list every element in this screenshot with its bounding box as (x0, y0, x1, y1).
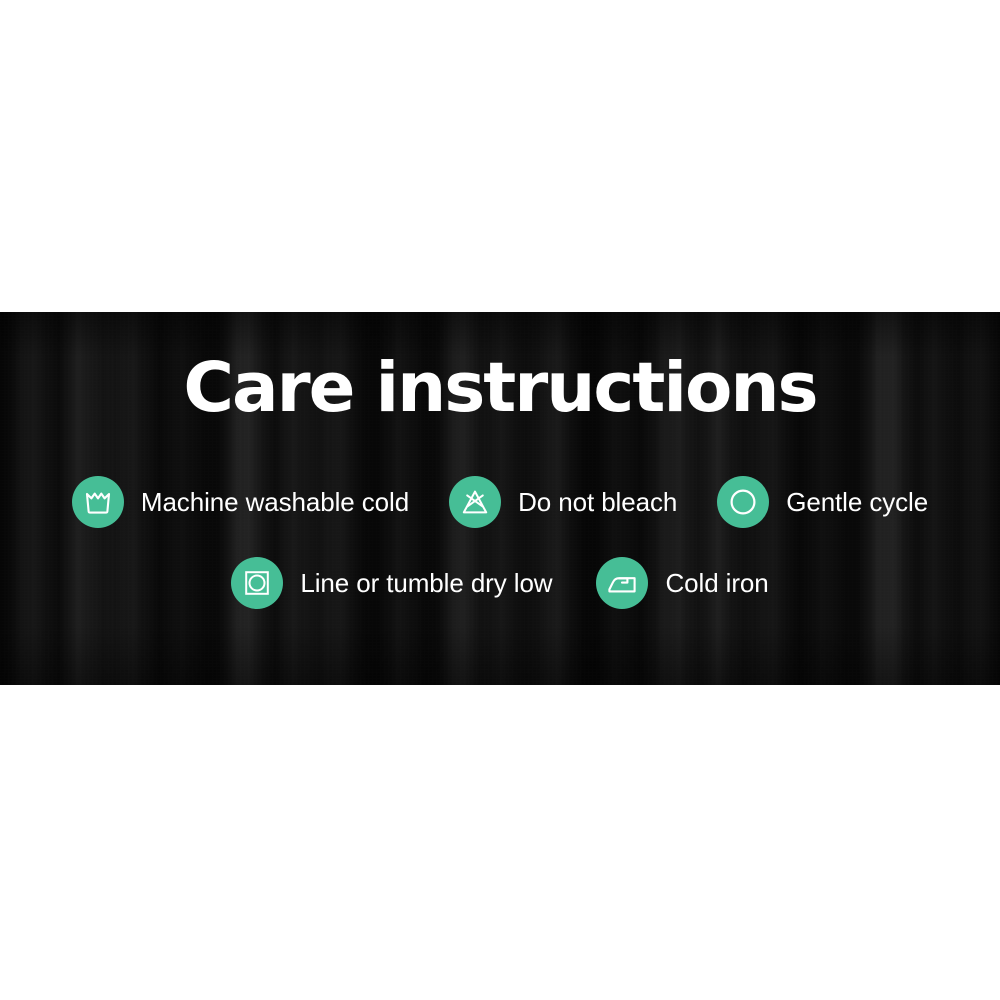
banner-title: Care instructions (0, 354, 1000, 423)
care-item-do-not-bleach: Do not bleach (449, 476, 677, 528)
care-item-gentle-cycle: Gentle cycle (717, 476, 928, 528)
care-row-1: Machine washable cold Do not bleach (0, 476, 1000, 528)
care-item-label: Machine washable cold (141, 487, 409, 518)
care-item-label: Cold iron (665, 568, 768, 599)
care-item-cold-iron: Cold iron (596, 557, 768, 609)
no-bleach-triangle-icon (449, 476, 501, 528)
iron-icon (596, 557, 648, 609)
care-item-label: Do not bleach (518, 487, 677, 518)
care-item-label: Gentle cycle (786, 487, 928, 518)
care-instructions-banner: Care instructions Machine washable cold (0, 312, 1000, 685)
banner-content: Care instructions Machine washable cold (0, 312, 1000, 685)
care-row-2: Line or tumble dry low Cold iron (0, 557, 1000, 609)
tumble-dry-icon (231, 557, 283, 609)
care-item-machine-washable-cold: Machine washable cold (72, 476, 409, 528)
page-canvas: Care instructions Machine washable cold (0, 0, 1000, 1000)
gentle-cycle-circle-icon (717, 476, 769, 528)
care-item-line-or-tumble-dry-low: Line or tumble dry low (231, 557, 552, 609)
care-item-label: Line or tumble dry low (300, 568, 552, 599)
wash-tub-icon (72, 476, 124, 528)
